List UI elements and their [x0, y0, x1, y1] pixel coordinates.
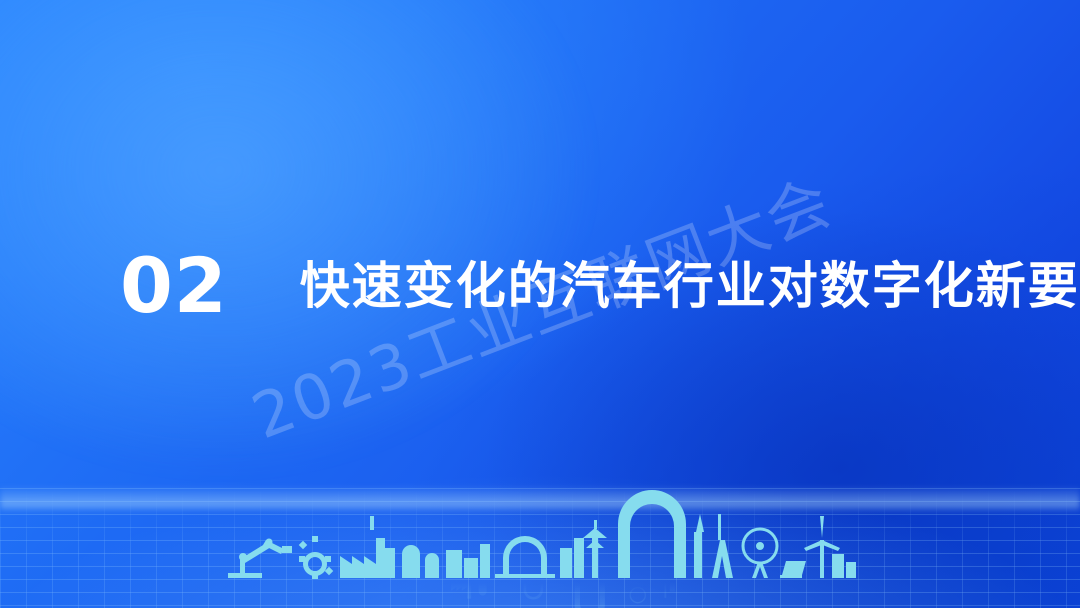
section-number: 02	[120, 248, 228, 324]
slide-canvas: 02 快速变化的汽车行业对数字化新要求 2023工业互联网大会	[0, 0, 1080, 608]
skyline-reflection	[220, 580, 860, 608]
section-title-block: 02 快速变化的汽车行业对数字化新要求	[120, 248, 1080, 324]
page-title: 快速变化的汽车行业对数字化新要求	[300, 261, 1080, 311]
skyline-icon	[220, 490, 860, 580]
